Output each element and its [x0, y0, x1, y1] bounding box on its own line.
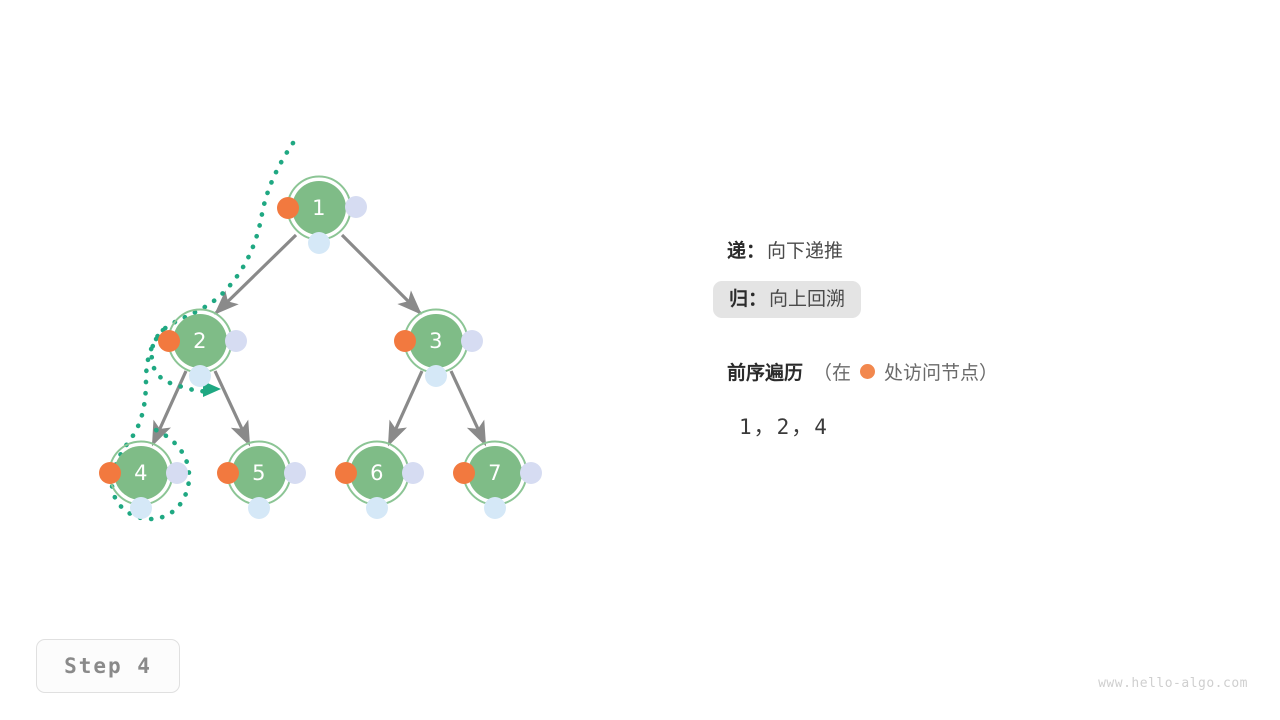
site-watermark: www.hello-algo.com: [1098, 676, 1248, 691]
node-7-visit-dot-icon: [453, 462, 475, 484]
edge-1-2: [216, 235, 296, 313]
node-6-visit-dot-icon: [335, 462, 357, 484]
animation-stage: 1 2 3 4 5 6 7 递： 向下递推 归： 向上回溯 前序遍历 （在 处访…: [0, 0, 1280, 720]
node-3-right-dot-icon: [461, 330, 483, 352]
tree-node-5[interactable]: [217, 442, 306, 520]
legend-row-recurse-down: 递： 向下递推: [727, 236, 1247, 267]
node-5-bottom-dot-icon: [248, 497, 270, 519]
binary-tree-diagram: [0, 0, 640, 600]
node-5-visit-dot-icon: [217, 462, 239, 484]
node-6-right-dot-icon: [402, 462, 424, 484]
legend-recurse-down-value: 向下递推: [767, 242, 843, 261]
node-1-right-dot-icon: [345, 196, 367, 218]
tree-nodes: [99, 177, 542, 520]
step-badge: Step 4: [36, 639, 180, 693]
legend-row-traversal: 前序遍历 （在 处访问节点）: [727, 358, 1247, 385]
node-2-visit-dot-icon: [158, 330, 180, 352]
edge-3-7: [451, 371, 485, 444]
node-3-visit-dot-icon: [394, 330, 416, 352]
legend-recurse-down-key: 递：: [727, 242, 765, 261]
tree-node-6[interactable]: [335, 442, 424, 520]
edge-2-5: [215, 371, 249, 444]
node-4-bottom-dot-icon: [130, 497, 152, 519]
traversal-sequence: 1，2，4: [739, 411, 1247, 441]
node-1-visit-dot-icon: [277, 197, 299, 219]
edge-3-6: [389, 371, 422, 444]
legend-backtrack-up-key: 归：: [729, 290, 767, 309]
tree-node-7[interactable]: [453, 442, 542, 520]
traversal-paren-close: 处访问节点）: [884, 358, 998, 385]
legend-backtrack-up-value: 向上回溯: [769, 290, 845, 309]
tree-node-2[interactable]: [158, 310, 247, 388]
legend-panel: 递： 向下递推 归： 向上回溯 前序遍历 （在 处访问节点） 1，2，4: [727, 236, 1247, 441]
node-4-right-dot-icon: [166, 462, 188, 484]
node-2-bottom-dot-icon: [189, 365, 211, 387]
node-5-right-dot-icon: [284, 462, 306, 484]
edge-1-3: [342, 235, 420, 313]
traversal-paren-open: （在: [813, 358, 851, 385]
node-1-bottom-dot-icon: [308, 232, 330, 254]
node-2-right-dot-icon: [225, 330, 247, 352]
node-4-visit-dot-icon: [99, 462, 121, 484]
traversal-title: 前序遍历: [727, 358, 803, 385]
orange-dot-icon: [860, 364, 875, 379]
legend-row-backtrack-up: 归： 向上回溯: [713, 281, 861, 318]
tree-node-3[interactable]: [394, 310, 483, 388]
node-7-bottom-dot-icon: [484, 497, 506, 519]
node-3-bottom-dot-icon: [425, 365, 447, 387]
tree-node-4[interactable]: [99, 442, 188, 520]
node-6-bottom-dot-icon: [366, 497, 388, 519]
node-7-right-dot-icon: [520, 462, 542, 484]
